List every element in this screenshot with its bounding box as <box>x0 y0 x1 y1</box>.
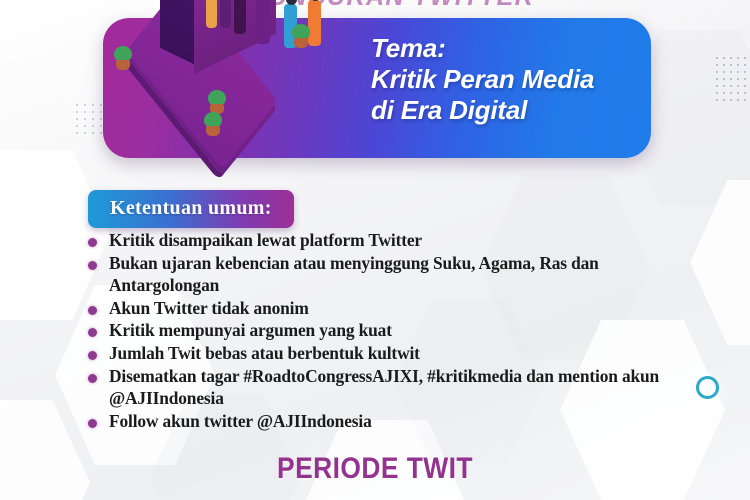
dot-grid-right <box>716 57 750 109</box>
list-item-text: Kritik disampaikan lewat platform Twitte… <box>109 230 422 252</box>
theme-title-line-2: di Era Digital <box>371 96 639 125</box>
list-item-text: Jumlah Twit bebas atau berbentuk kultwit <box>109 343 420 365</box>
circle-ring-decoration <box>696 376 719 399</box>
bullet-icon <box>88 306 97 315</box>
person-figure <box>308 0 321 46</box>
person-figure <box>220 0 231 28</box>
theme-title-line-1: Kritik Peran Media <box>371 65 639 94</box>
rules-list: Kritik disampaikan lewat platform Twitte… <box>88 230 688 434</box>
isometric-illustration <box>108 0 368 166</box>
poster-canvas: PELUNCURAN TWITTER Tema: Kritik Peran Me… <box>0 0 750 500</box>
person-figure <box>234 0 246 34</box>
list-item: Jumlah Twit bebas atau berbentuk kultwit <box>88 343 688 365</box>
list-item: Disematkan tagar #RoadtoCongressAJIXI, #… <box>88 366 688 410</box>
list-item-text: Bukan ujaran kebencian atau menyinggung … <box>109 253 688 297</box>
list-item: Bukan ujaran kebencian atau menyinggung … <box>88 253 688 297</box>
bottom-heading: PERIODE TWIT <box>45 452 705 486</box>
list-item-text: Kritik mempunyai argumen yang kuat <box>109 320 392 342</box>
list-item: Follow akun twitter @AJIIndonesia <box>88 411 688 433</box>
theme-banner-text: Tema: Kritik Peran Media di Era Digital <box>371 34 639 125</box>
list-item-text: Disematkan tagar #RoadtoCongressAJIXI, #… <box>109 366 688 410</box>
list-item: Akun Twitter tidak anonim <box>88 298 688 320</box>
list-item-text: Akun Twitter tidak anonim <box>109 298 309 320</box>
bullet-icon <box>88 351 97 360</box>
person-figure <box>256 0 270 44</box>
bullet-icon <box>88 261 97 270</box>
theme-label: Tema: <box>371 34 639 63</box>
list-item-text: Follow akun twitter @AJIIndonesia <box>109 411 372 433</box>
section-pill-ketentuan-umum: Ketentuan umum: <box>88 190 294 228</box>
bullet-icon <box>88 238 97 247</box>
bullet-icon <box>88 374 97 383</box>
person-figure <box>206 0 217 28</box>
list-item: Kritik mempunyai argumen yang kuat <box>88 320 688 342</box>
section-pill-label: Ketentuan umum: <box>110 197 272 219</box>
bullet-icon <box>88 328 97 337</box>
bullet-icon <box>88 419 97 428</box>
list-item: Kritik disampaikan lewat platform Twitte… <box>88 230 688 252</box>
